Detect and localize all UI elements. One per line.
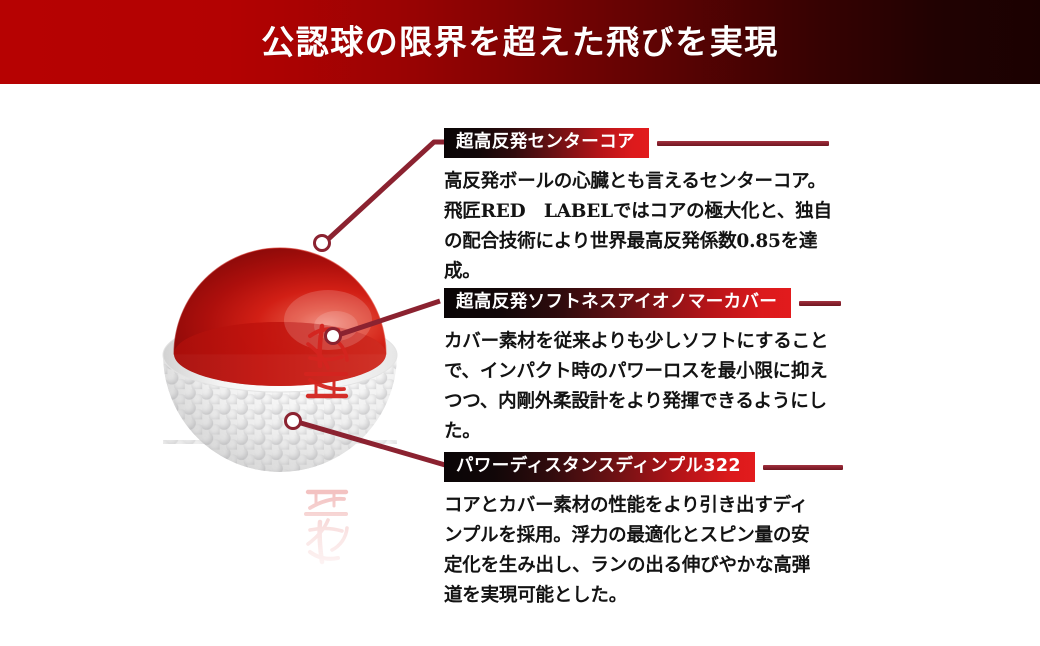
callout-1-label-row: 超高反発センターコア (444, 128, 860, 158)
callout-ionomer-cover: 超高反発ソフトネスアイオノマーカバー カバー素材を従来よりも少しソフトにすること… (444, 288, 860, 447)
callout-1-rule (657, 141, 829, 146)
callout-2-label[interactable]: 超高反発ソフトネスアイオノマーカバー (444, 288, 791, 318)
callout-3-rule (763, 465, 843, 470)
callout-power-distance-dimple: パワーディスタンスディンプル322 コアとカバー素材の性能をより引き出すディ ン… (444, 452, 860, 611)
ball-core (174, 248, 386, 386)
callout-3-body: コアとカバー素材の性能をより引き出すディ ンプルを採用。浮力の最適化とスピン量の… (444, 491, 860, 611)
callout-center-core: 超高反発センターコア 高反発ボールの心臓とも言えるセンターコア。 飛匠RED L… (444, 128, 860, 287)
callout-2-label-row: 超高反発ソフトネスアイオノマーカバー (444, 288, 860, 318)
callout-2-body: カバー素材を従来よりも少しソフトにすること で、インパクト時のパワーロスを最小限… (444, 327, 860, 447)
infographic-page: 公認球の限界を超えた飛びを実現 (0, 0, 1040, 646)
callout-3-label[interactable]: パワーディスタンスディンプル322 (444, 452, 755, 482)
callout-3-label-row: パワーディスタンスディンプル322 (444, 452, 860, 482)
callout-2-rule (799, 301, 841, 306)
golf-ball-figure (150, 208, 410, 588)
page-title: 公認球の限界を超えた飛びを実現 (0, 26, 1040, 59)
callout-1-body: 高反発ボールの心臓とも言えるセンターコア。 飛匠RED LABELではコアの極大… (444, 167, 860, 287)
callout-1-label[interactable]: 超高反発センターコア (444, 128, 649, 158)
header-banner: 公認球の限界を超えた飛びを実現 (0, 0, 1040, 84)
